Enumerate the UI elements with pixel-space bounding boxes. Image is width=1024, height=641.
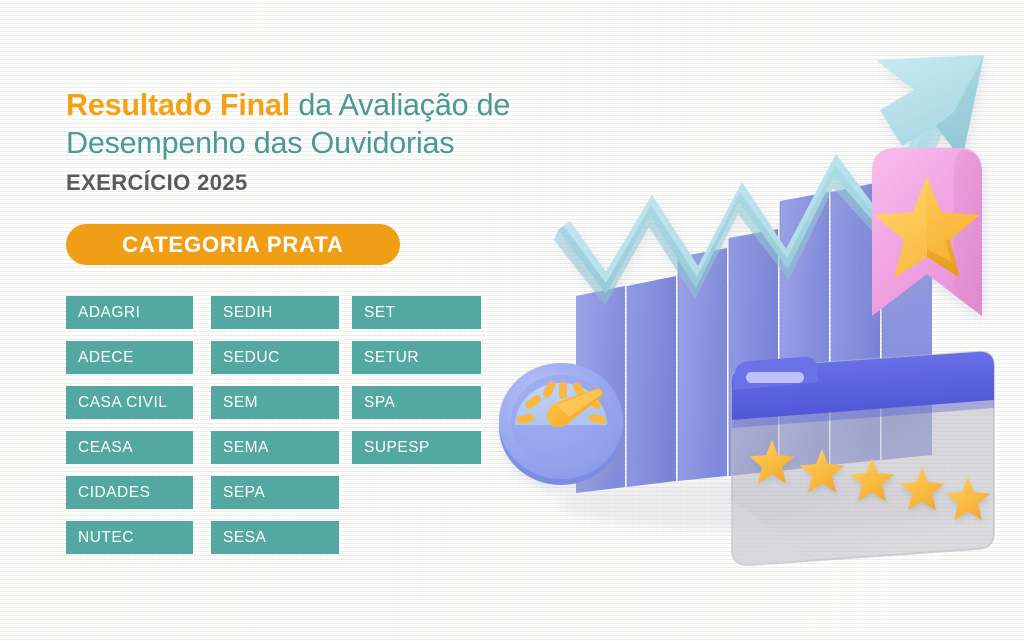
agency-chip: SESA xyxy=(211,521,339,554)
five-star-rating-card xyxy=(732,352,994,565)
category-badge-label: CATEGORIA PRATA xyxy=(122,232,344,258)
agency-chip-label: NUTEC xyxy=(78,529,134,547)
exercise-year-label: EXERCÍCIO 2025 xyxy=(66,170,248,196)
agency-chip-label: SEMA xyxy=(223,439,269,457)
agency-column-2: SEDIH SEDUC SEM SEMA SEPA SESA xyxy=(211,296,339,566)
agency-chip-label: CASA CIVIL xyxy=(78,394,167,412)
agency-chip: SETUR xyxy=(352,341,481,374)
agency-chip-label: SEDIH xyxy=(223,304,273,322)
agency-chip-label: SEDUC xyxy=(223,349,280,367)
agency-chip: SEM xyxy=(211,386,339,419)
chart-bar-2 xyxy=(627,276,676,487)
category-badge: CATEGORIA PRATA xyxy=(66,224,400,265)
page-title: Resultado Final da Avaliação de Desempen… xyxy=(66,86,606,162)
agency-chip-label: ADAGRI xyxy=(78,304,140,322)
agency-chip: SEDIH xyxy=(211,296,339,329)
title-line-1-rest: da Avaliação de xyxy=(290,88,510,122)
text-content-area: Resultado Final da Avaliação de Desempen… xyxy=(0,0,520,641)
agency-chip-label: SESA xyxy=(223,529,266,547)
agency-chip: NUTEC xyxy=(66,521,193,554)
agency-chip-label: CIDADES xyxy=(78,484,150,502)
agency-chip-label: SEPA xyxy=(223,484,265,502)
agency-chip-label: CEASA xyxy=(78,439,133,457)
agency-chip: SUPESP xyxy=(352,431,481,464)
agency-chip: SPA xyxy=(352,386,481,419)
agency-chip-label: SETUR xyxy=(364,349,419,367)
title-line-2: Desempenho das Ouvidorias xyxy=(66,124,606,162)
agency-column-3: SET SETUR SPA SUPESP xyxy=(352,296,481,476)
agency-chip-label: ADECE xyxy=(78,349,134,367)
agency-chip: CIDADES xyxy=(66,476,193,509)
agency-chip: SEMA xyxy=(211,431,339,464)
agency-column-1: ADAGRI ADECE CASA CIVIL CEASA CIDADES NU… xyxy=(66,296,193,566)
agency-chip: SEPA xyxy=(211,476,339,509)
agency-chip: CEASA xyxy=(66,431,193,464)
agency-chip: ADECE xyxy=(66,341,193,374)
agency-chip: SET xyxy=(352,296,481,329)
agency-chip: SEDUC xyxy=(211,341,339,374)
agency-chip-label: SPA xyxy=(364,394,395,412)
agency-chip-label: SUPESP xyxy=(364,439,430,457)
agency-chip-label: SET xyxy=(364,304,396,322)
agency-chip: CASA CIVIL xyxy=(66,386,193,419)
agency-chip: ADAGRI xyxy=(66,296,193,329)
title-highlight: Resultado Final xyxy=(66,88,290,122)
agency-chip-label: SEM xyxy=(223,394,258,412)
poster-canvas: Resultado Final da Avaliação de Desempen… xyxy=(0,0,1024,641)
title-line-1: Resultado Final da Avaliação de xyxy=(66,86,606,124)
